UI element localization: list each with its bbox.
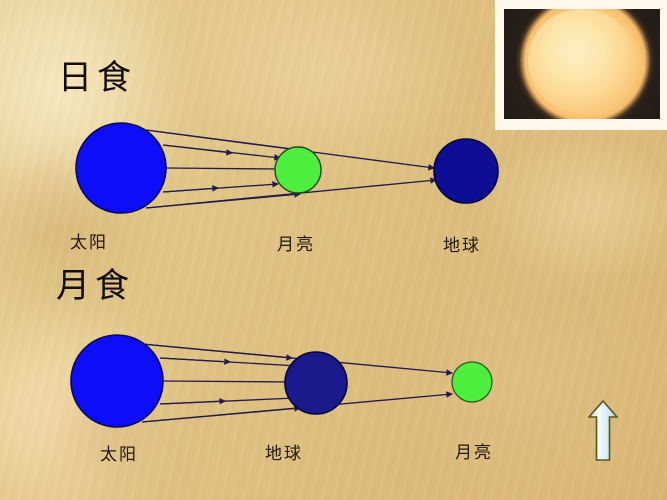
eclipse-diagram-slide: 日食 月食 太阳 月亮 地球 太阳 地球 月亮 <box>0 0 667 500</box>
sun-disk <box>528 9 636 113</box>
label-lunar-moon: 月亮 <box>455 444 493 461</box>
lunar-earth-body <box>285 352 347 414</box>
lunar-moon-body <box>452 362 492 402</box>
up-arrow-button[interactable] <box>588 400 618 462</box>
sun-photograph-plate <box>504 9 660 119</box>
section-title-solar-eclipse: 日食 <box>58 62 136 96</box>
solar-sun-body <box>76 123 166 213</box>
sun-photograph-inset <box>495 0 667 130</box>
label-lunar-earth: 地球 <box>265 445 303 462</box>
label-lunar-sun: 太阳 <box>100 446 138 463</box>
solar-moon-body <box>275 147 321 193</box>
lunar-sun-body <box>71 335 163 427</box>
section-title-lunar-eclipse: 月食 <box>56 270 134 304</box>
label-solar-earth: 地球 <box>443 237 481 254</box>
label-solar-moon: 月亮 <box>277 236 315 253</box>
up-arrow-icon[interactable] <box>588 400 618 462</box>
solar-earth-body <box>434 139 498 203</box>
label-solar-sun: 太阳 <box>70 234 108 251</box>
